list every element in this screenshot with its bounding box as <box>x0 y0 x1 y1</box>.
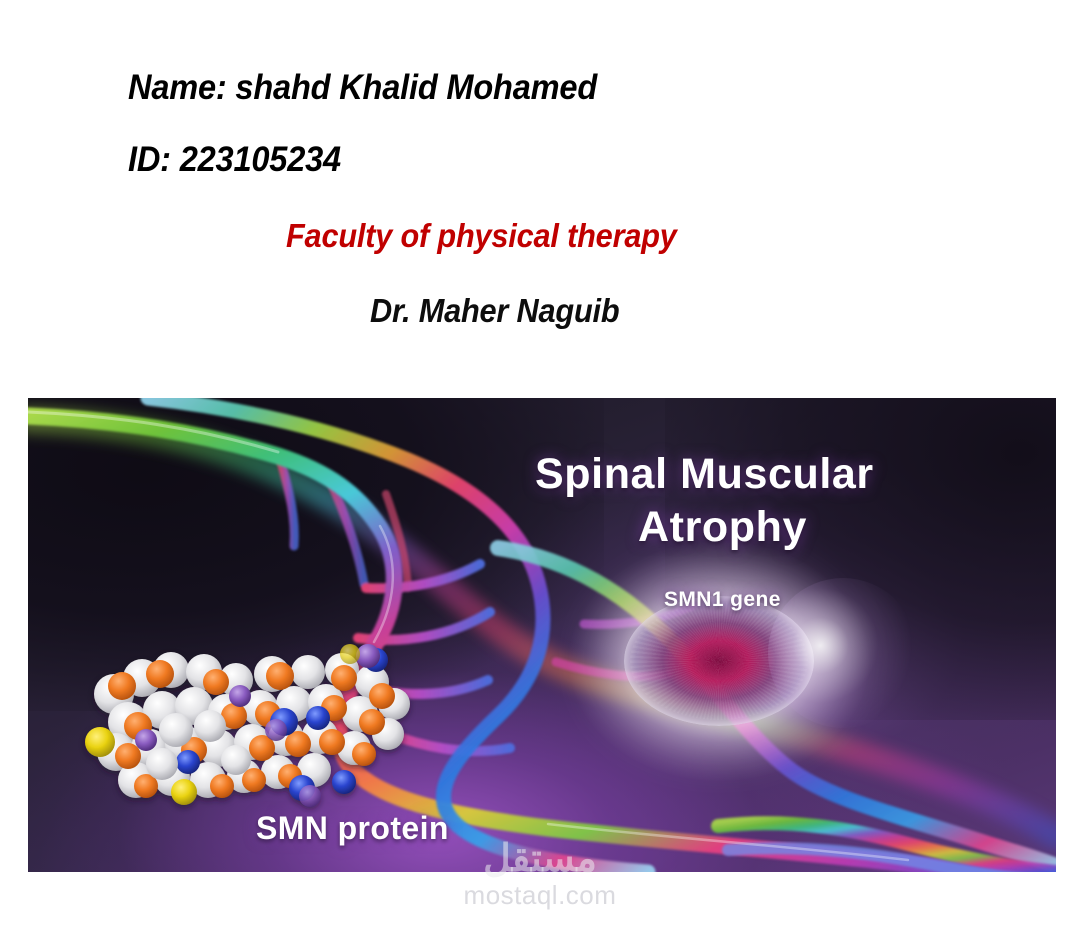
figure-title-line2: Atrophy <box>638 503 807 552</box>
gene-light-burst <box>768 578 918 728</box>
smn-protein-molecule-icon <box>76 630 416 820</box>
faculty-line: Faculty of physical therapy <box>286 217 677 255</box>
student-name-line: Name: shahd Khalid Mohamed <box>128 68 597 108</box>
smn1-gene-label: SMN1 gene <box>664 588 781 612</box>
watermark-domain-text: mostaql.com <box>464 882 617 908</box>
title-block: Name: shahd Khalid Mohamed ID: 223105234… <box>0 0 1080 398</box>
smn-protein-label: SMN protein <box>256 810 449 847</box>
doctor-name-line: Dr. Maher Naguib <box>370 292 619 330</box>
sma-illustration: Spinal Muscular Atrophy SMN1 gene SMN pr… <box>28 398 1056 872</box>
figure-title-line1: Spinal Muscular <box>535 450 874 499</box>
student-id-line: ID: 223105234 <box>128 140 341 180</box>
